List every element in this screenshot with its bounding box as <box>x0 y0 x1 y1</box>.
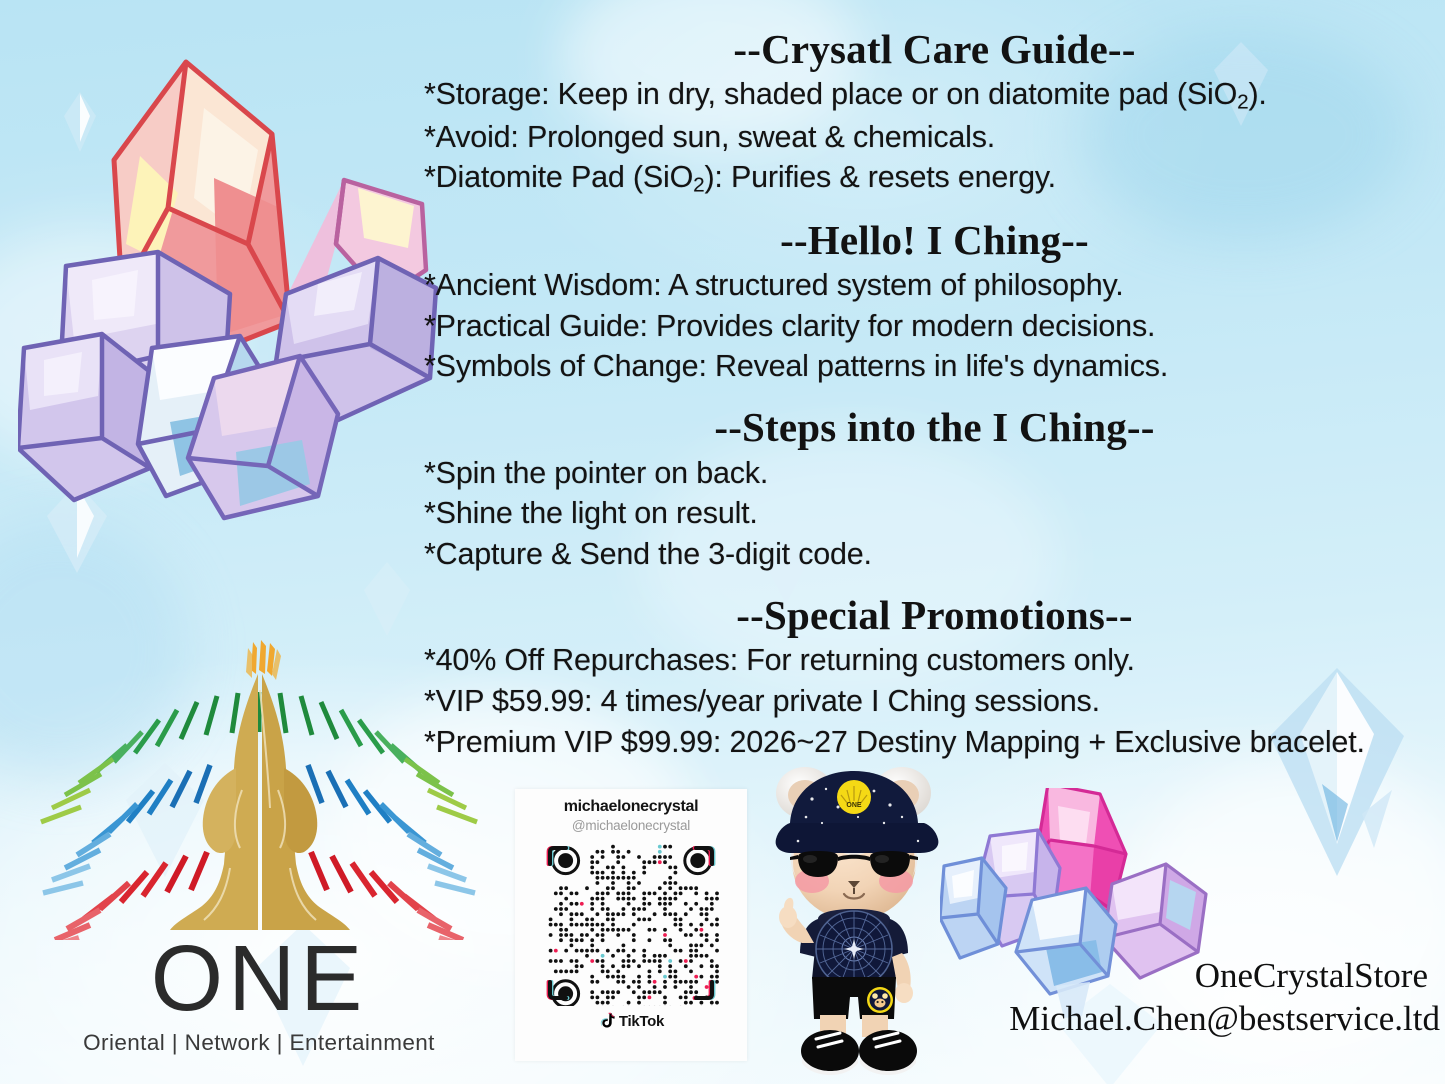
qr-account-handle: @michaelonecrystal <box>572 818 690 833</box>
section-line: *Spin the pointer on back. <box>424 453 1445 494</box>
logo-rays-and-hands-icon <box>14 640 504 940</box>
section-heading: --Special Promotions-- <box>424 594 1445 637</box>
contact-email[interactable]: Michael.Chen@bestservice.ltd <box>900 998 1440 1041</box>
svg-text:ONE: ONE <box>846 802 862 809</box>
section-line: *Capture & Send the 3-digit code. <box>424 534 1445 575</box>
tiktok-qr-card[interactable]: michaelonecrystal @michaelonecrystal Tik… <box>515 789 747 1061</box>
section-line: *Symbols of Change: Reveal patterns in l… <box>424 346 1445 387</box>
section-line: *Practical Guide: Provides clarity for m… <box>424 306 1445 347</box>
poster-canvas: --Crysatl Care Guide-- *Storage: Keep in… <box>0 0 1445 1084</box>
qr-account-name: michaelonecrystal <box>564 798 699 816</box>
background-gem-icon <box>360 560 414 638</box>
section-heading: --Crysatl Care Guide-- <box>424 28 1445 71</box>
content-text-column: --Crysatl Care Guide-- *Storage: Keep in… <box>424 28 1445 764</box>
contact-block: OneCrystalStore Michael.Chen@bestservice… <box>900 955 1440 1040</box>
tiktok-label: TikTok <box>619 1013 664 1030</box>
qr-code-image[interactable] <box>542 840 720 1006</box>
section-line: *Diatomite Pad (SiO2): Purifies & resets… <box>424 157 1445 199</box>
section-line: *VIP $59.99: 4 times/year private I Chin… <box>424 681 1445 722</box>
section-line: *Avoid: Prolonged sun, sweat & chemicals… <box>424 117 1445 158</box>
section-special-promotions: --Special Promotions-- *40% Off Repurcha… <box>424 594 1445 763</box>
store-name: OneCrystalStore <box>900 955 1440 998</box>
crystal-cluster-illustration <box>18 48 438 548</box>
section-heading: --Hello! I Ching-- <box>424 219 1445 262</box>
section-crystal-care-guide: --Crysatl Care Guide-- *Storage: Keep in… <box>424 28 1445 200</box>
section-steps-into-the-i-ching: --Steps into the I Ching-- *Spin the poi… <box>424 406 1445 575</box>
logo-wordmark: ONE <box>14 932 504 1025</box>
tiktok-branding: TikTok <box>598 1012 664 1030</box>
section-line: *Storage: Keep in dry, shaded place or o… <box>424 74 1445 116</box>
section-line: *Ancient Wisdom: A structured system of … <box>424 265 1445 306</box>
logo-tagline: Oriental | Network | Entertainment <box>14 1030 504 1056</box>
section-line: *Shine the light on result. <box>424 493 1445 534</box>
section-line: *40% Off Repurchases: For returning cust… <box>424 640 1445 681</box>
tiktok-note-icon <box>598 1012 615 1030</box>
section-heading: --Steps into the I Ching-- <box>424 406 1445 449</box>
one-brand-logo: ONE Oriental | Network | Entertainment <box>14 640 504 1065</box>
section-hello-i-ching: --Hello! I Ching-- *Ancient Wisdom: A st… <box>424 219 1445 388</box>
